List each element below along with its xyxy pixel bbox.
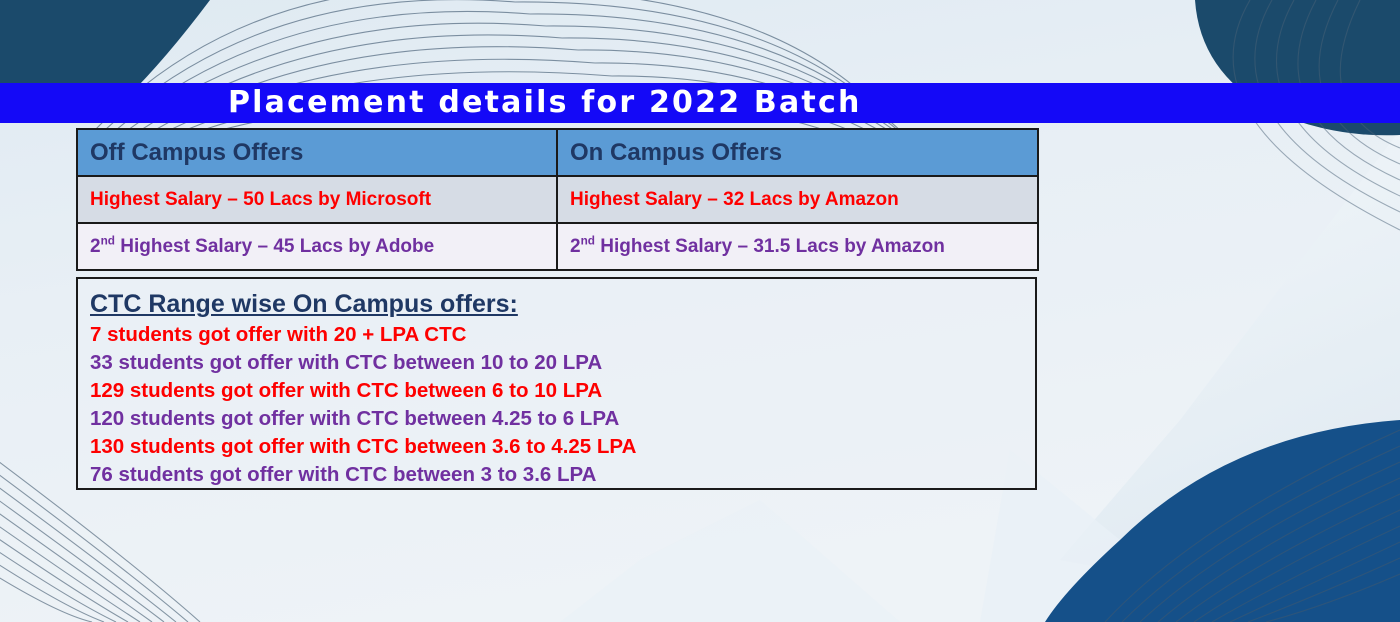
offers-table: Off Campus Offers On Campus Offers Highe…: [76, 128, 1039, 271]
on-campus-second-salary-text: 2nd Highest Salary – 31.5 Lacs by Amazon: [570, 236, 945, 257]
page-title: Placement details for 2022 Batch: [228, 88, 862, 118]
header-off-campus-offers: Off Campus Offers: [77, 129, 557, 176]
ordinal-number: 2: [570, 236, 581, 257]
ordinal-suffix: nd: [581, 234, 595, 247]
ctc-range-list: 7 students got offer with 20 + LPA CTC33…: [90, 321, 1035, 489]
cell-off-campus-second: 2nd Highest Salary – 45 Lacs by Adobe: [77, 223, 557, 270]
off-campus-second-salary-text: 2nd Highest Salary – 45 Lacs by Adobe: [90, 236, 434, 257]
on-campus-second-salary-rest: Highest Salary – 31.5 Lacs by Amazon: [595, 236, 945, 257]
header-on-campus-offers: On Campus Offers: [557, 129, 1038, 176]
ctc-section-heading: CTC Range wise On Campus offers:: [90, 288, 1035, 320]
ctc-range-line: 130 students got offer with CTC between …: [90, 433, 1035, 461]
ctc-range-box: CTC Range wise On Campus offers: 7 stude…: [76, 277, 1037, 490]
ctc-range-line: 129 students got offer with CTC between …: [90, 377, 1035, 405]
on-campus-highest-salary-text: Highest Salary – 32 Lacs by Amazon: [570, 189, 899, 210]
cell-off-campus-highest: Highest Salary – 50 Lacs by Microsoft: [77, 176, 557, 223]
table-row-second-highest-salary: 2nd Highest Salary – 45 Lacs by Adobe 2n…: [77, 223, 1038, 270]
table-row-highest-salary: Highest Salary – 50 Lacs by Microsoft Hi…: [77, 176, 1038, 223]
off-campus-highest-salary-text: Highest Salary – 50 Lacs by Microsoft: [90, 189, 431, 210]
cell-on-campus-highest: Highest Salary – 32 Lacs by Amazon: [557, 176, 1038, 223]
cell-on-campus-second: 2nd Highest Salary – 31.5 Lacs by Amazon: [557, 223, 1038, 270]
ctc-range-line: 120 students got offer with CTC between …: [90, 405, 1035, 433]
off-campus-second-salary-rest: Highest Salary – 45 Lacs by Adobe: [115, 236, 434, 257]
ordinal-number: 2: [90, 236, 101, 257]
ctc-range-line: 7 students got offer with 20 + LPA CTC: [90, 321, 1035, 349]
ctc-range-line: 76 students got offer with CTC between 3…: [90, 461, 1035, 489]
table-header-row: Off Campus Offers On Campus Offers: [77, 129, 1038, 176]
slide-title-bar: Placement details for 2022 Batch: [0, 83, 1400, 123]
ordinal-suffix: nd: [101, 234, 115, 247]
ctc-range-line: 33 students got offer with CTC between 1…: [90, 349, 1035, 377]
